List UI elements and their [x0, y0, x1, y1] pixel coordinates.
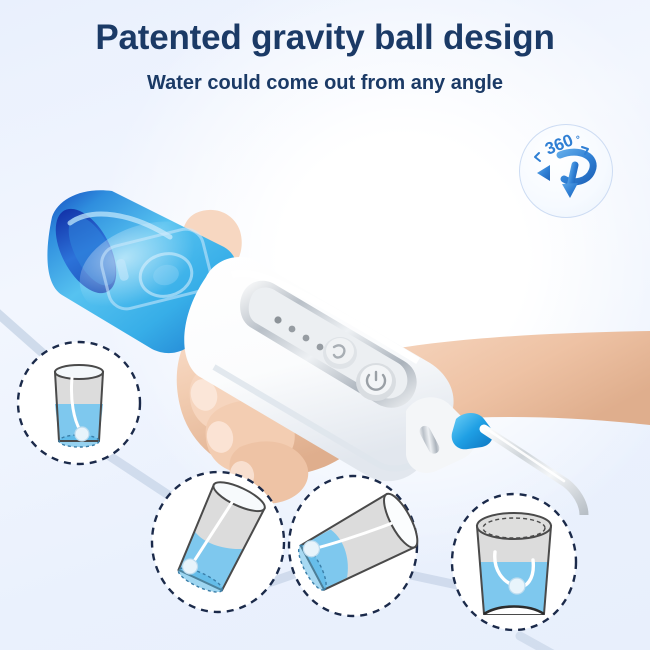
product-marketing-image: Patented gravity ball design Water could…: [0, 0, 650, 650]
gravity-ball-glass-upright: [14, 338, 144, 468]
power-button[interactable]: [356, 363, 396, 401]
gravity-ball: [75, 427, 89, 441]
glass-illustration: [55, 365, 103, 447]
gravity-ball-glass-top-view: [447, 490, 581, 640]
gravity-ball: [509, 578, 525, 594]
mode-button[interactable]: [323, 337, 357, 369]
gravity-ball-glass-horizontal: [283, 472, 423, 620]
glass-illustration: [477, 513, 551, 614]
page-title: Patented gravity ball design: [0, 18, 650, 58]
gravity-ball-glass-tilted: [148, 468, 288, 616]
page-subtitle: Water could come out from any angle: [0, 72, 650, 95]
